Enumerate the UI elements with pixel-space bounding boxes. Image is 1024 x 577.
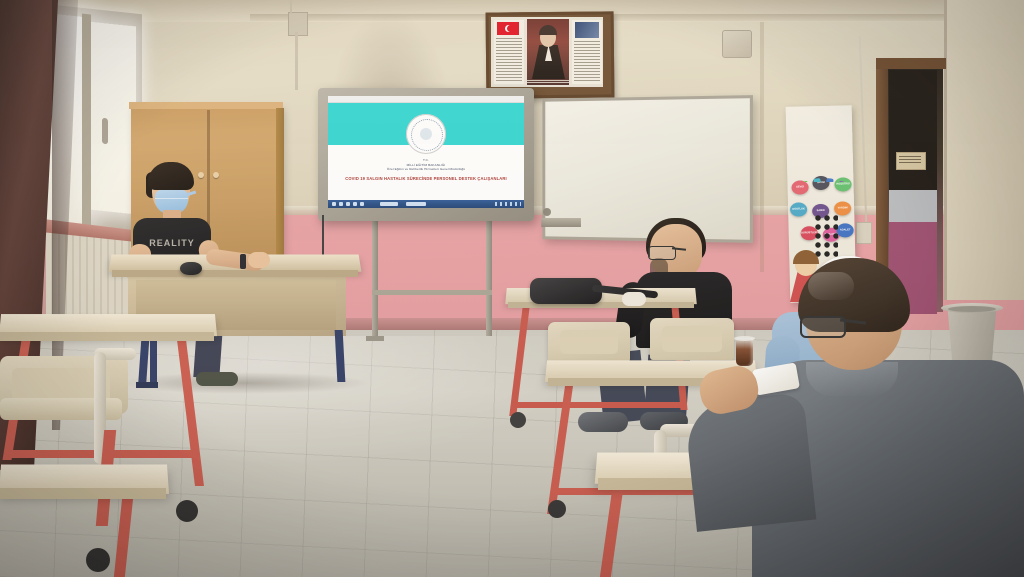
trash-bin-opening — [948, 306, 996, 312]
slide-title: COVID 19 SALGIN HASTALIK SÜRECİNDE PERSO… — [336, 176, 516, 182]
desk1-rail — [516, 402, 686, 408]
front-desk1-edge — [0, 332, 214, 341]
white-item-on-desk — [622, 292, 646, 306]
front-desk1-caster — [176, 500, 198, 522]
anthem-text-lines — [496, 38, 522, 82]
board-stand-crossbar — [372, 290, 492, 295]
taskbar-powerpoint-button[interactable] — [406, 202, 426, 206]
teacher-desk-edge — [112, 270, 358, 277]
front-desk2-edge — [0, 488, 166, 499]
board-stand-left — [372, 221, 378, 339]
slide-organization: T.C. MİLLİ EĞİTİM BAKANLIĞI Özel Eğitim … — [346, 158, 506, 172]
desk2-caster-left — [548, 500, 566, 518]
poster-dot-pattern — [812, 212, 838, 260]
electrical-box — [288, 12, 308, 36]
attendee1-shoe-left — [578, 412, 628, 432]
flag-star-icon — [505, 25, 512, 32]
taskbar-mail-icon[interactable] — [360, 202, 364, 206]
window-title-bar — [328, 96, 524, 103]
corridor-sign-text — [899, 156, 921, 165]
window-mullion — [82, 14, 91, 227]
tea-glass[interactable] — [736, 338, 753, 366]
poster-badge: ADALET — [836, 223, 853, 237]
classroom-photo: T.C. MİLLİ EĞİTİM BAKANLIĞI Özel Eğitim … — [0, 0, 1024, 577]
front-desk2-caster — [86, 548, 110, 572]
cabinet-side — [276, 108, 284, 268]
conduit-cable-top — [290, 0, 292, 14]
poster-badge: DOSTLUK — [790, 202, 807, 216]
cabinet-knob-left[interactable] — [198, 172, 204, 178]
wall-socket-box[interactable] — [856, 222, 872, 244]
floor-light-reflection — [60, 336, 580, 466]
pencil-icon — [820, 178, 834, 182]
presenter-hand — [248, 252, 270, 268]
taskbar-window-button[interactable] — [380, 202, 398, 206]
portrait-photo-small — [575, 22, 599, 38]
cabinet-top — [129, 102, 283, 109]
slide-org-line3: Özel Eğitim ve Rehberlik Hizmetleri Gene… — [346, 167, 506, 172]
windows-taskbar[interactable] — [328, 200, 524, 208]
presenter-shirt-text: REALITY — [146, 238, 198, 252]
poster-badge-label: ADALET — [836, 223, 853, 237]
emblem-core — [420, 128, 432, 140]
wristwatch-icon — [240, 254, 246, 269]
cabinet-knob-right[interactable] — [213, 172, 219, 178]
corridor-dark-area — [889, 70, 937, 190]
portrait-caption — [527, 80, 569, 84]
taskbar-start-icon[interactable] — [332, 202, 336, 206]
poster-badge-label: DOSTLUK — [790, 202, 807, 216]
teacher-desk-foot — [136, 382, 158, 388]
window-glass-right — [90, 22, 136, 215]
corridor-wall-upper — [889, 190, 937, 226]
taskbar-browser-icon[interactable] — [353, 202, 357, 206]
poster-badge-label: SEVGİ — [791, 180, 808, 194]
pencil-icon — [813, 178, 827, 182]
tea-glass-rim — [734, 336, 755, 341]
whiteboard-marker-tray — [541, 218, 581, 227]
smart-board-screen[interactable]: T.C. MİLLİ EĞİTİM BAKANLIĞI Özel Eğitim … — [328, 96, 524, 208]
system-tray[interactable] — [495, 202, 521, 206]
door-header — [876, 58, 946, 69]
board-stand-right — [486, 221, 492, 336]
wall-right-column — [944, 0, 1024, 300]
desk1-caster — [510, 412, 526, 428]
shoulder-bag[interactable] — [530, 278, 602, 304]
presenter-shoe — [196, 372, 238, 386]
attendee3-arm — [684, 392, 817, 532]
conduit-cable — [295, 32, 298, 90]
attendee3-hair-grey — [808, 272, 854, 300]
face-mask-fold — [155, 198, 188, 199]
bench-seat-2-inner — [662, 326, 722, 352]
bench-seat-1-inner — [560, 330, 618, 354]
board-stand-foot — [366, 336, 384, 341]
address-text-lines — [574, 41, 600, 82]
window-handle[interactable] — [102, 118, 108, 145]
wall-corner-seam — [944, 0, 947, 300]
whiteboard-knob — [543, 208, 551, 216]
taskbar-explorer-icon[interactable] — [346, 202, 350, 206]
wall-speaker — [722, 30, 752, 58]
taskbar-search-icon[interactable] — [339, 202, 343, 206]
computer-mouse[interactable] — [180, 262, 202, 275]
wall-seam — [760, 22, 764, 272]
presenter-hair — [148, 162, 194, 190]
pencils-group — [790, 108, 852, 182]
poster-badge: SEVGİ — [791, 180, 808, 194]
